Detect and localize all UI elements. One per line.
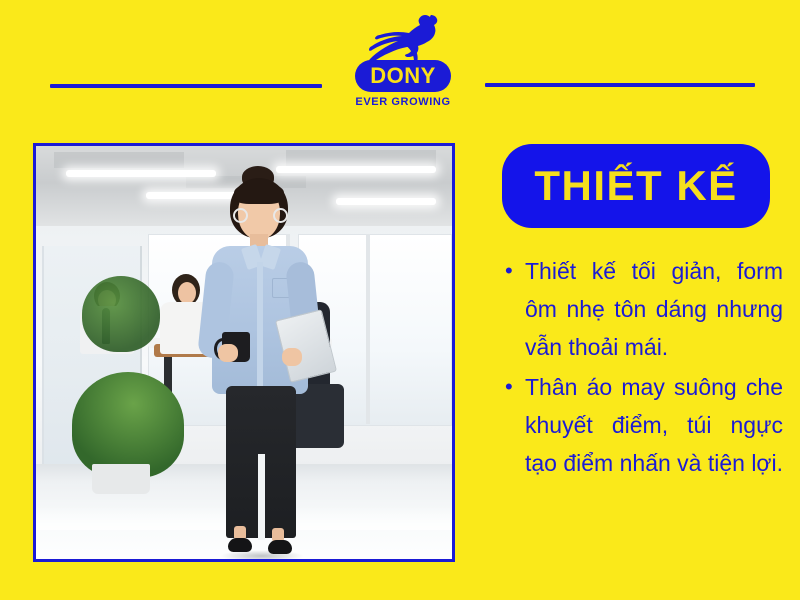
plant-pot bbox=[92, 464, 150, 494]
model-figure bbox=[186, 166, 336, 559]
shoe-right bbox=[268, 540, 292, 554]
poster-canvas: DONY EVER GROWING bbox=[0, 0, 800, 600]
fringe bbox=[234, 182, 284, 204]
feature-bullet-list: • Thiết kế tối giản, form ôm nhẹ tôn dán… bbox=[505, 252, 783, 484]
logo-pill: DONY bbox=[355, 60, 451, 92]
hand-right bbox=[282, 348, 302, 366]
divider-line-left bbox=[50, 84, 322, 88]
button-placket bbox=[257, 262, 263, 390]
bullet-text: Thiết kế tối giản, form ôm nhẹ tôn dáng … bbox=[525, 252, 783, 366]
bullet-dot-icon: • bbox=[505, 368, 525, 406]
bullet-dot-icon: • bbox=[505, 252, 525, 290]
earring-left bbox=[233, 208, 248, 223]
logo-tagline: EVER GROWING bbox=[355, 96, 451, 108]
office-photo bbox=[36, 146, 452, 559]
kangaroo-icon bbox=[367, 12, 441, 64]
list-item: • Thiết kế tối giản, form ôm nhẹ tôn dán… bbox=[505, 252, 783, 366]
section-title-badge: THIẾT KẾ bbox=[502, 144, 770, 228]
header: DONY EVER GROWING bbox=[0, 0, 800, 130]
leg-gap bbox=[258, 454, 265, 540]
dony-logo: DONY EVER GROWING bbox=[355, 12, 451, 112]
plant-upper bbox=[82, 276, 160, 352]
logo-wordmark: DONY bbox=[370, 65, 436, 87]
divider-line-right bbox=[485, 83, 755, 87]
shoe-left bbox=[228, 538, 252, 552]
product-photo-frame bbox=[33, 143, 455, 562]
plant-lower bbox=[72, 372, 184, 478]
hand-left bbox=[218, 344, 238, 362]
page-title: THIẾT KẾ bbox=[534, 165, 737, 207]
list-item: • Thân áo may suông che khuyết điểm, túi… bbox=[505, 368, 783, 482]
earring-right bbox=[273, 208, 288, 223]
bullet-text: Thân áo may suông che khuyết điểm, túi n… bbox=[525, 368, 783, 482]
